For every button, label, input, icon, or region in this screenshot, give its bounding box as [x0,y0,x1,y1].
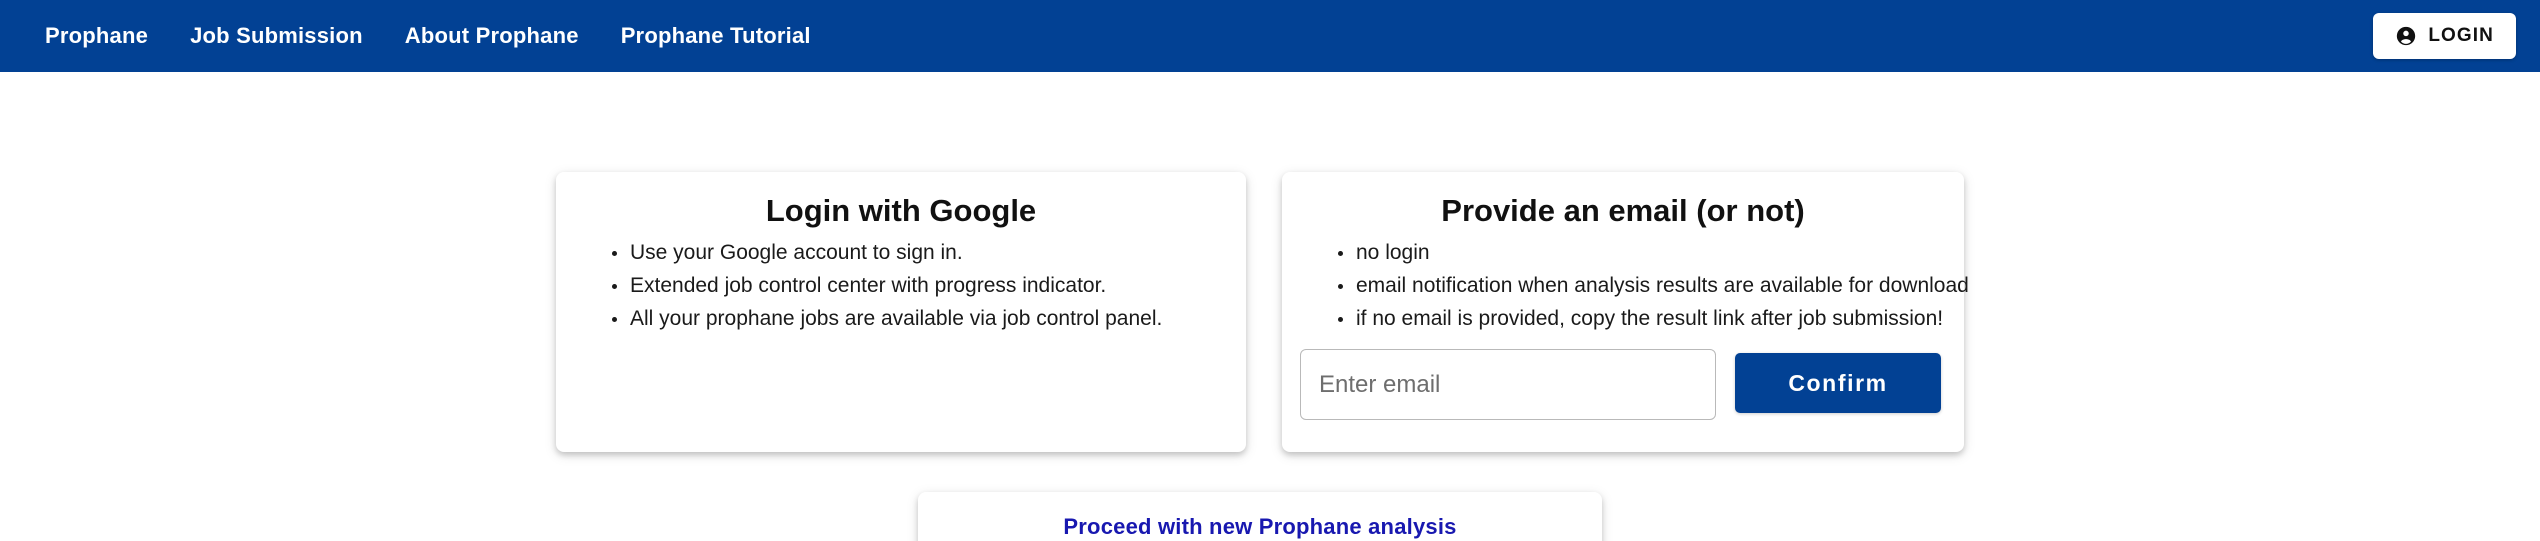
email-card: Provide an email (or not) no login email… [1282,172,1964,452]
google-login-card: Login with Google Use your Google accoun… [556,172,1246,452]
list-item: email notification when analysis results… [1338,275,1964,296]
google-card-bullets: Use your Google account to sign in. Exte… [556,242,1246,329]
nav-link-about-prophane[interactable]: About Prophane [384,0,600,72]
email-card-bullets: no login email notification when analysi… [1282,242,1964,329]
nav-links: Prophane Job Submission About Prophane P… [24,0,832,72]
nav-link-prophane-tutorial[interactable]: Prophane Tutorial [600,0,832,72]
top-navbar: Prophane Job Submission About Prophane P… [0,0,2540,72]
email-card-title: Provide an email (or not) [1282,192,1964,231]
list-item: All your prophane jobs are available via… [612,308,1246,329]
proceed-with-new-analysis-link[interactable]: Proceed with new Prophane analysis [918,492,1602,541]
google-card-title: Login with Google [556,192,1246,231]
list-item: Use your Google account to sign in. [612,242,1246,263]
list-item: no login [1338,242,1964,263]
nav-link-prophane[interactable]: Prophane [24,0,169,72]
list-item: if no email is provided, copy the result… [1338,308,1964,329]
main-content: Login with Google Use your Google accoun… [0,72,2540,541]
proceed-card[interactable]: Proceed with new Prophane analysis [918,492,1602,541]
email-form-row: Confirm [1300,349,1941,420]
login-button-label: LOGIN [2428,25,2494,47]
confirm-button[interactable]: Confirm [1735,353,1941,413]
login-button[interactable]: LOGIN [2373,13,2516,59]
email-input[interactable] [1300,349,1716,420]
account-circle-icon [2395,25,2417,47]
list-item: Extended job control center with progres… [612,275,1246,296]
nav-link-job-submission[interactable]: Job Submission [169,0,384,72]
